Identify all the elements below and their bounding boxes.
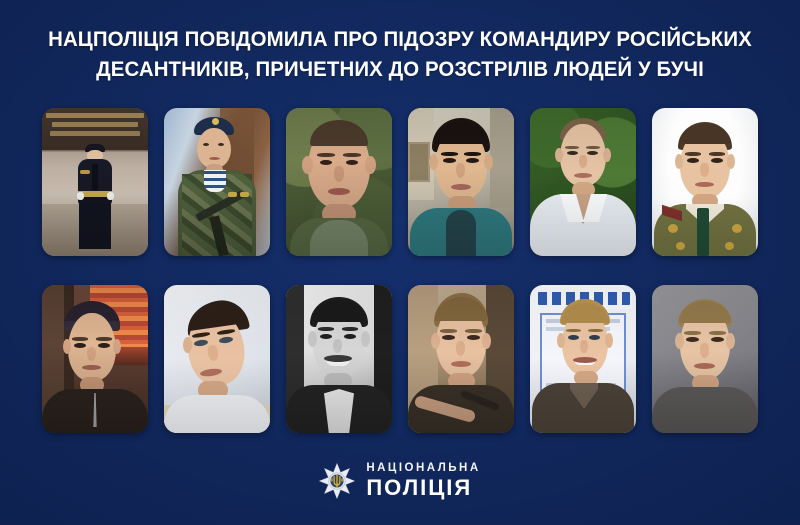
suspect-photo-10 bbox=[408, 285, 514, 433]
suspect-photo-1 bbox=[42, 108, 148, 256]
photo-row bbox=[42, 108, 758, 256]
suspect-photo-9 bbox=[286, 285, 392, 433]
photo-row bbox=[42, 285, 758, 433]
logo-wordmark: Національна Поліція bbox=[366, 463, 480, 500]
police-announcement-poster: Нацполіція повідомила про підозру команд… bbox=[0, 0, 800, 525]
suspect-photo-5 bbox=[530, 108, 636, 256]
logo-line-national: Національна bbox=[366, 463, 480, 475]
suspect-photo-7 bbox=[42, 285, 148, 433]
suspect-photo-4 bbox=[408, 108, 514, 256]
headline-line-2: десантників, причетних до розстрілів люд… bbox=[20, 54, 780, 84]
national-police-logo: Національна Поліція bbox=[0, 463, 800, 500]
suspect-photo-8 bbox=[164, 285, 270, 433]
suspect-photo-12 bbox=[652, 285, 758, 433]
police-star-badge-icon bbox=[319, 463, 355, 499]
page-title: Нацполіція повідомила про підозру команд… bbox=[20, 24, 780, 84]
suspect-photo-grid bbox=[42, 108, 758, 433]
suspect-photo-11 bbox=[530, 285, 636, 433]
suspect-photo-2 bbox=[164, 108, 270, 256]
suspect-photo-6 bbox=[652, 108, 758, 256]
suspect-photo-3 bbox=[286, 108, 392, 256]
logo-line-police: Поліція bbox=[366, 477, 480, 499]
headline-line-1: Нацполіція повідомила про підозру команд… bbox=[20, 24, 780, 54]
